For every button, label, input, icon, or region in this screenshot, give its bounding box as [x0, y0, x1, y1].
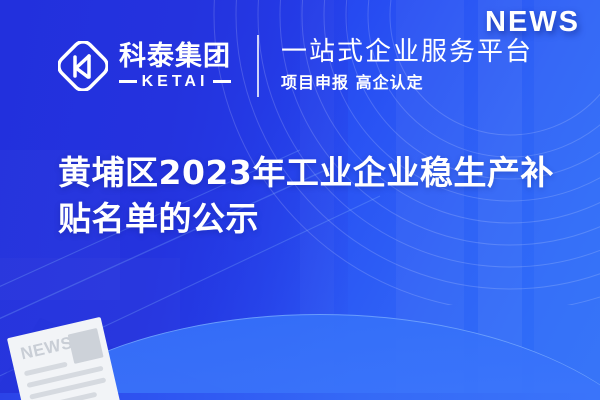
slogan-block: 一站式企业服务平台 项目申报 高企认定 [281, 38, 533, 93]
brand-name-en-row: KETAI [119, 74, 231, 90]
brand-name-en: KETAI [142, 74, 209, 90]
slogan-sub: 项目申报 高企认定 [281, 72, 533, 94]
page-title: 黄埔区2023年工业企业稳生产补贴名单的公示 [58, 150, 568, 241]
brand-name-cn: 科泰集团 [119, 43, 231, 70]
ketai-k-diamond-logo-icon [58, 41, 108, 91]
wordmark-dash-right [213, 80, 231, 83]
wordmark-dash-left [119, 80, 137, 83]
slogan-main: 一站式企业服务平台 [281, 38, 533, 67]
news-label: NEWS [485, 6, 580, 39]
brand-logo[interactable]: 科泰集团 KETAI [58, 41, 231, 91]
brand-wordmark: 科泰集团 KETAI [119, 43, 231, 90]
vertical-divider [257, 35, 259, 97]
news-banner: 科泰集团 KETAI 一站式企业服务平台 项目申报 高企认定 NEWS 黄埔区2… [0, 0, 600, 400]
